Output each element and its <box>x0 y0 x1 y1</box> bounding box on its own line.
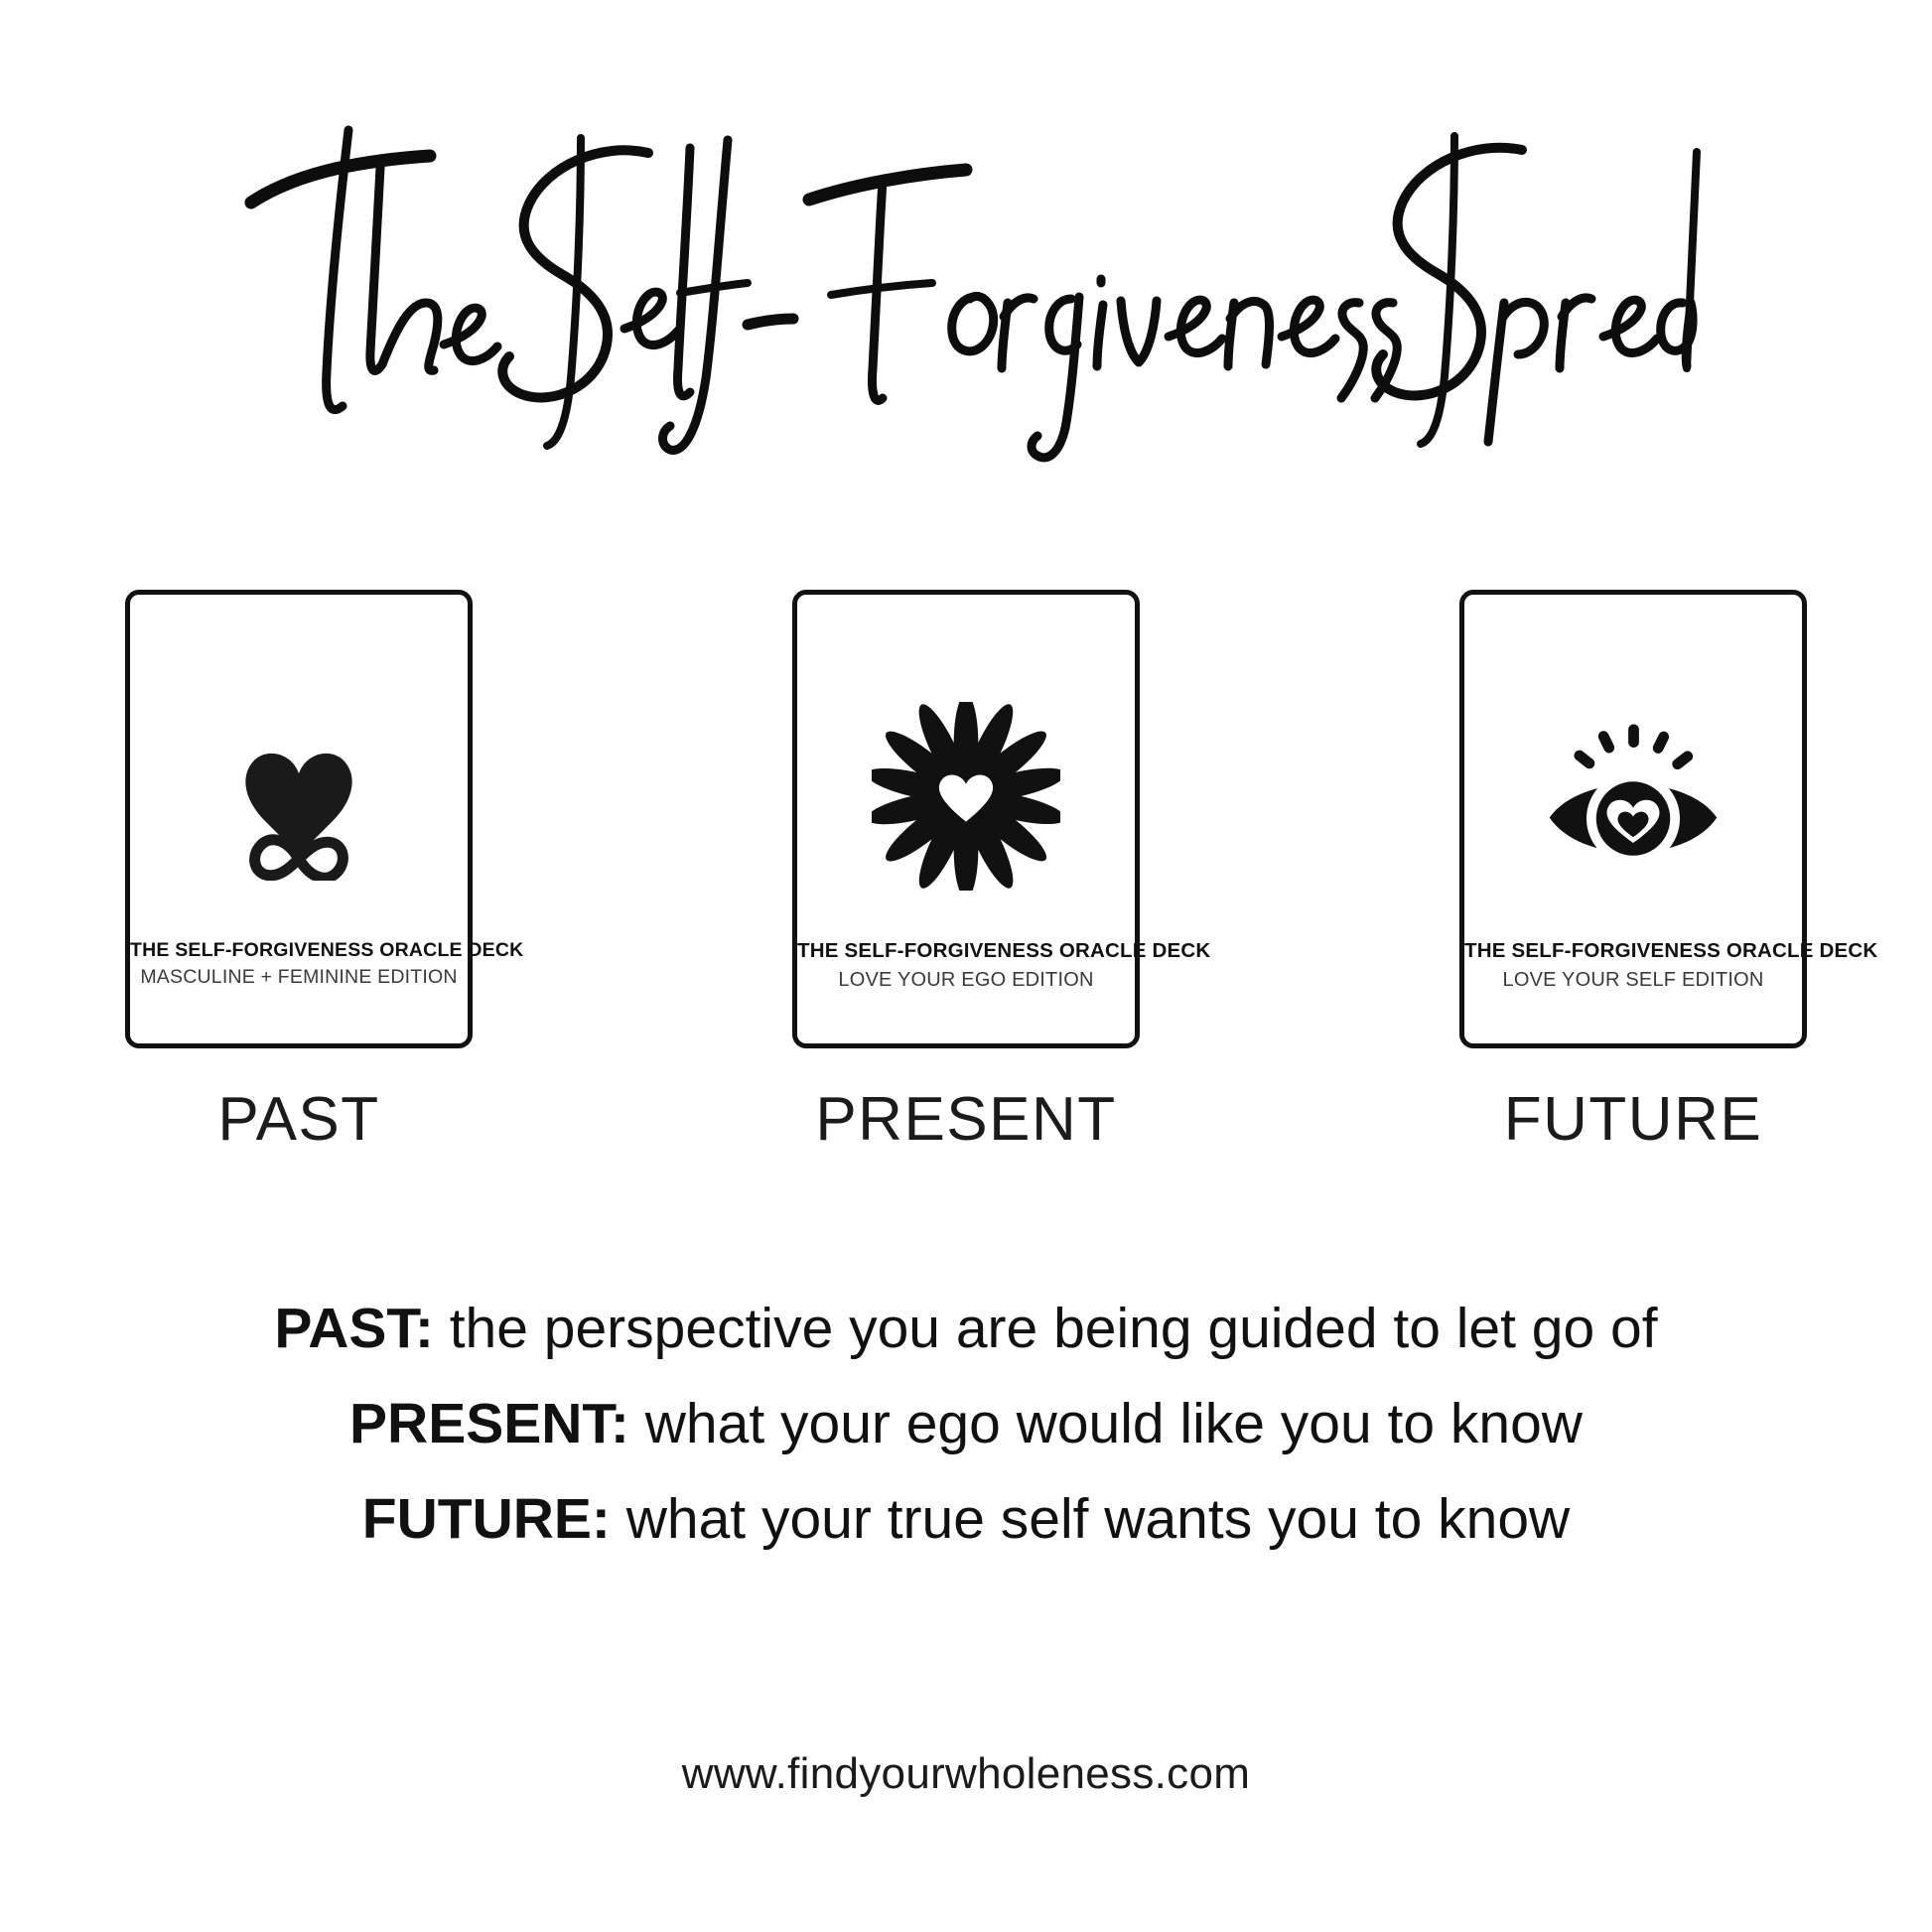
card-edition: LOVE YOUR SELF EDITION <box>1464 967 1802 993</box>
eye-heart-icon <box>1464 702 1802 891</box>
description-past-text: the perspective you are being guided to … <box>434 1297 1658 1360</box>
card-row: THE SELF-FORGIVENESS ORACLE DECK MASCULI… <box>125 590 1807 1048</box>
description-present-label: PRESENT: <box>349 1392 629 1455</box>
card-edition: LOVE YOUR EGO EDITION <box>797 967 1135 993</box>
card-caption: THE SELF-FORGIVENESS ORACLE DECK LOVE YO… <box>797 938 1135 993</box>
page-title: The Self-Forgiveness Spread <box>0 73 1932 500</box>
heart-infinity-icon <box>130 702 468 891</box>
card-deck-name: THE SELF-FORGIVENESS ORACLE DECK <box>1464 938 1802 964</box>
description-list: PAST: the perspective you are being guid… <box>0 1281 1932 1567</box>
card-deck-name: THE SELF-FORGIVENESS ORACLE DECK <box>130 938 468 962</box>
description-present: PRESENT: what your ego would like you to… <box>349 1376 1583 1471</box>
title-script-artwork <box>231 108 1701 466</box>
card-caption: THE SELF-FORGIVENESS ORACLE DECK MASCULI… <box>130 938 468 991</box>
spread-poster: The Self-Forgiveness Spread <box>0 0 1932 1932</box>
description-future-text: what your true self wants you to know <box>611 1487 1570 1551</box>
description-future: FUTURE: what your true self wants you to… <box>362 1471 1570 1567</box>
card-edition: MASCULINE + FEMININE EDITION <box>130 965 468 990</box>
card-future[interactable]: THE SELF-FORGIVENESS ORACLE DECK LOVE YO… <box>1459 590 1807 1048</box>
card-caption: THE SELF-FORGIVENESS ORACLE DECK LOVE YO… <box>1464 938 1802 993</box>
description-present-text: what your ego would like you to know <box>629 1392 1583 1455</box>
position-labels: PAST PRESENT FUTURE <box>125 1084 1807 1155</box>
footer-website[interactable]: www.findyourwholeness.com <box>0 1749 1932 1799</box>
position-label-present: PRESENT <box>792 1084 1140 1155</box>
flower-heart-icon <box>797 702 1135 891</box>
card-past[interactable]: THE SELF-FORGIVENESS ORACLE DECK MASCULI… <box>125 590 473 1048</box>
position-label-future: FUTURE <box>1459 1084 1807 1155</box>
description-past: PAST: the perspective you are being guid… <box>274 1281 1657 1376</box>
description-future-label: FUTURE: <box>362 1487 611 1551</box>
card-deck-name: THE SELF-FORGIVENESS ORACLE DECK <box>797 938 1135 964</box>
position-label-past: PAST <box>125 1084 473 1155</box>
description-past-label: PAST: <box>274 1297 433 1360</box>
card-present[interactable]: THE SELF-FORGIVENESS ORACLE DECK LOVE YO… <box>792 590 1140 1048</box>
